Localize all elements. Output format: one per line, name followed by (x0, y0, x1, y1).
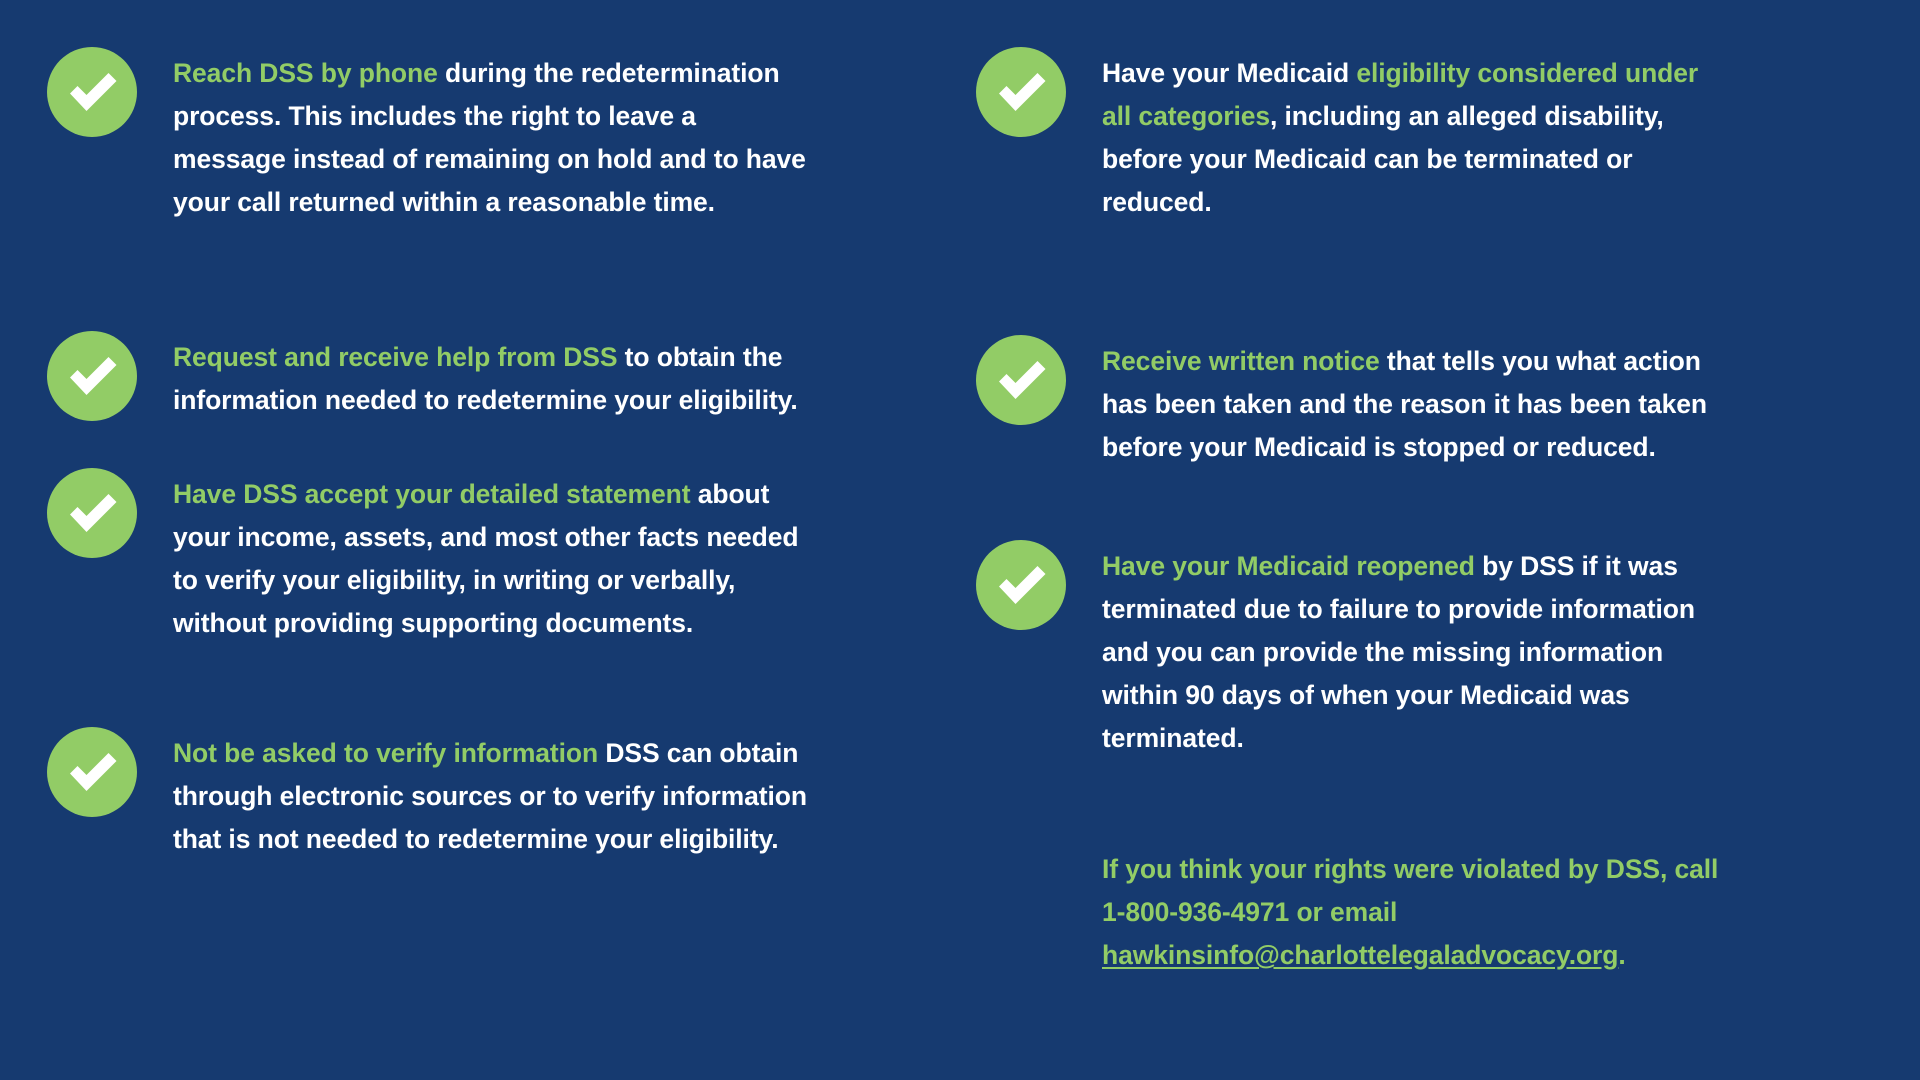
check-circle-icon (975, 46, 1067, 138)
infographic-page: Reach DSS by phone during the redetermin… (0, 0, 1920, 1080)
rights-item-lead: Have your Medicaid (1102, 58, 1356, 88)
rights-item-text: Have DSS accept your detailed statement … (173, 467, 813, 645)
rights-item-highlight: Have DSS accept your detailed statement (173, 479, 690, 509)
rights-item: Receive written notice that tells you wh… (975, 334, 1920, 469)
check-circle-icon (46, 330, 138, 422)
check-circle-icon (46, 726, 138, 818)
contact-text: If you think your rights were violated b… (1102, 842, 1722, 977)
two-column-layout: Reach DSS by phone during the redetermin… (0, 0, 1920, 1080)
rights-item-highlight: Not be asked to verify information (173, 738, 598, 768)
rights-item: Have your Medicaid eligibility considere… (975, 46, 1920, 224)
rights-item: Not be asked to verify information DSS c… (46, 726, 975, 861)
check-circle-icon (975, 539, 1067, 631)
contact-block: If you think your rights were violated b… (1102, 842, 1920, 977)
rights-item: Reach DSS by phone during the redetermin… (46, 46, 975, 224)
check-circle-icon (975, 334, 1067, 426)
contact-prefix: If you think your rights were violated b… (1102, 854, 1718, 927)
rights-item: Have DSS accept your detailed statement … (46, 467, 975, 645)
rights-item-body: by DSS if it was terminated due to failu… (1102, 551, 1695, 753)
rights-item-highlight: Request and receive help from DSS (173, 342, 617, 372)
check-circle-icon (46, 46, 138, 138)
rights-item: Have your Medicaid reopened by DSS if it… (975, 539, 1920, 760)
rights-item-text: Have your Medicaid eligibility considere… (1102, 46, 1722, 224)
rights-item-text: Have your Medicaid reopened by DSS if it… (1102, 539, 1722, 760)
left-column: Reach DSS by phone during the redetermin… (0, 46, 975, 1080)
contact-suffix: . (1618, 940, 1625, 970)
rights-item-highlight: Receive written notice (1102, 346, 1380, 376)
contact-email-link[interactable]: hawkinsinfo@charlottelegaladvocacy.org (1102, 940, 1618, 970)
rights-item-text: Request and receive help from DSS to obt… (173, 330, 813, 422)
right-column: Have your Medicaid eligibility considere… (975, 46, 1920, 1080)
rights-item-text: Not be asked to verify information DSS c… (173, 726, 813, 861)
rights-item-highlight: Reach DSS by phone (173, 58, 438, 88)
rights-item: Request and receive help from DSS to obt… (46, 330, 975, 422)
rights-item-text: Receive written notice that tells you wh… (1102, 334, 1722, 469)
rights-item-text: Reach DSS by phone during the redetermin… (173, 46, 813, 224)
check-circle-icon (46, 467, 138, 559)
rights-item-highlight: Have your Medicaid reopened (1102, 551, 1475, 581)
